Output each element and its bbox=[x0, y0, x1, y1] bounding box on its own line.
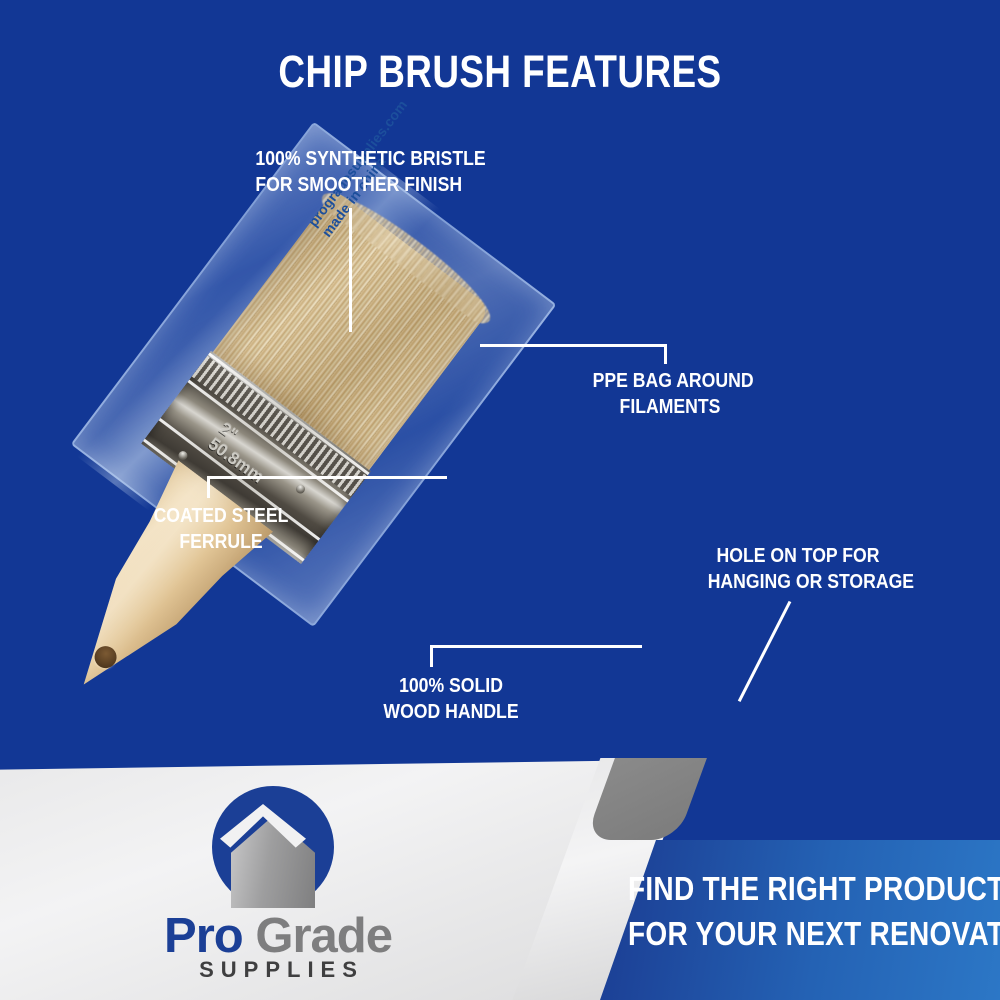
brand-subtitle: SUPPLIES bbox=[128, 957, 428, 983]
ferrule-rivet bbox=[294, 483, 307, 496]
page-title: CHIP BRUSH FEATURES bbox=[90, 46, 910, 98]
brand-word-secondary: Grade bbox=[255, 909, 392, 963]
brand-word-primary: Pro bbox=[164, 909, 243, 963]
tagline-line-1: FIND THE RIGHT PRODUCT bbox=[628, 866, 934, 911]
callout-line-ferrule-drop bbox=[207, 476, 210, 498]
callout-line-ppe-bag-horizontal bbox=[480, 344, 667, 347]
tagline-line-2: FOR YOUR NEXT RENOVATION bbox=[628, 911, 934, 956]
callout-line-bristle bbox=[349, 208, 352, 332]
callout-line-wood-handle-drop bbox=[430, 645, 433, 667]
callout-label-ppe-bag: PPE BAG AROUND FILAMENTS bbox=[593, 368, 748, 420]
brand-logo-icon bbox=[212, 786, 334, 908]
callout-label-ferrule: COATED STEEL FERRULE bbox=[132, 503, 309, 555]
callout-label-bristle: 100% SYNTHETIC BRISTLE FOR SMOOTHER FINI… bbox=[255, 146, 444, 198]
callout-line-wood-handle-horizontal bbox=[430, 645, 642, 648]
callout-label-wood-handle: 100% SOLID WOOD HANDLE bbox=[371, 673, 531, 725]
callout-label-hanging-hole: HOLE ON TOP FOR HANGING OR STORAGE bbox=[708, 543, 889, 595]
ferrule-rivet bbox=[177, 449, 190, 462]
callout-line-hanging-hole bbox=[738, 601, 792, 702]
infographic-canvas: CHIP BRUSH FEATURES 2" 50.8mm progradesu… bbox=[0, 0, 1000, 1000]
callout-line-ppe-bag-drop bbox=[664, 344, 667, 364]
callout-line-ferrule-horizontal bbox=[207, 476, 447, 479]
tagline-text: FIND THE RIGHT PRODUCT FOR YOUR NEXT REN… bbox=[628, 866, 934, 956]
brand-wordmark: Pro Grade bbox=[128, 908, 428, 964]
